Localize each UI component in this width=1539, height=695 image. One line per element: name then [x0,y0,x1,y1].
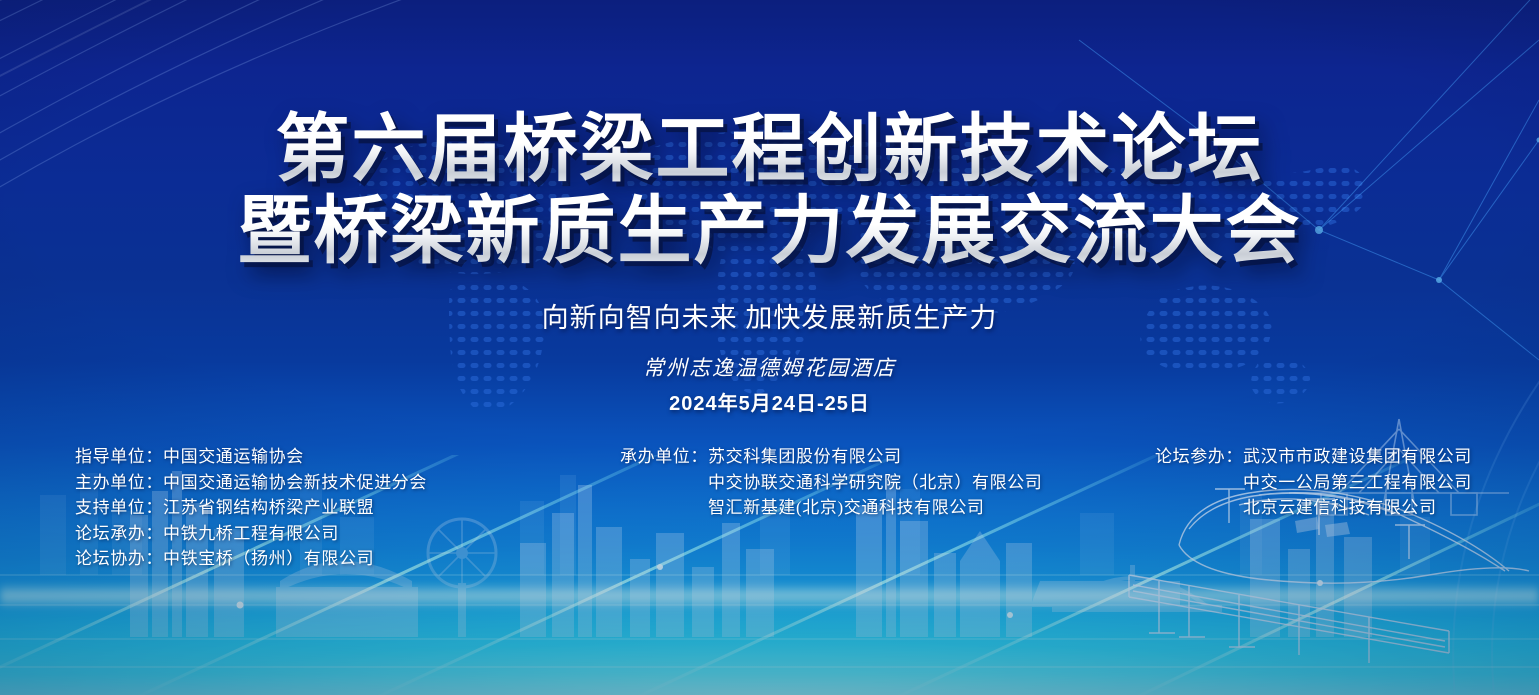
sponsor-value: 中交一公局第三工程有限公司 [1243,470,1472,496]
sponsor-value: 中交协联交通科学研究院（北京）有限公司 [708,470,1042,496]
sponsor-label: 论坛协办： [75,546,163,572]
sponsor-value: 北京云建信科技有限公司 [1243,495,1437,521]
sponsor-credits: 指导单位： 中国交通运输协会 主办单位： 中国交通运输协会新技术促进分会 支持单… [0,440,1539,570]
sponsor-value: 江苏省钢结构桥梁产业联盟 [163,495,374,521]
sponsor-row: 承办单位： 中交协联交通科学研究院（北京）有限公司 [620,470,1042,496]
conference-banner: 第六届桥梁工程创新技术论坛 暨桥梁新质生产力发展交流大会 向新向智向未来 加快发… [0,0,1539,695]
sponsor-row: 指导单位： 中国交通运输协会 [75,444,427,470]
sponsor-value: 中国交通运输协会 [163,444,304,470]
event-date: 2024年5月24日-25日 [0,387,1539,416]
sponsor-label: 主办单位： [75,470,163,496]
sponsor-value: 武汉市市政建设集团有限公司 [1243,444,1472,470]
sponsor-row: 论坛协办： 中铁宝桥（扬州）有限公司 [75,546,427,572]
sponsor-row: 论坛参办： 中交一公局第三工程有限公司 [1155,470,1472,496]
sponsor-label: 承办单位： [620,444,708,470]
venue-and-date: 常州志逸温德姆花园酒店 2024年5月24日-25日 [0,352,1539,416]
sponsor-row: 支持单位： 江苏省钢结构桥梁产业联盟 [75,495,427,521]
sponsor-column-middle: 承办单位： 苏交科集团股份有限公司 承办单位： 中交协联交通科学研究院（北京）有… [620,444,1042,521]
title-line-2: 暨桥梁新质生产力发展交流大会 [0,190,1539,272]
sponsor-row: 论坛承办： 中铁九桥工程有限公司 [75,521,427,547]
sponsor-row: 承办单位： 智汇新基建(北京)交通科技有限公司 [620,495,1042,521]
sponsor-value: 中铁九桥工程有限公司 [163,521,339,547]
sponsor-label: 论坛承办： [75,521,163,547]
main-title: 第六届桥梁工程创新技术论坛 暨桥梁新质生产力发展交流大会 [0,108,1539,272]
sponsor-label: 论坛参办： [1155,444,1243,470]
sponsor-column-right: 论坛参办： 武汉市市政建设集团有限公司 论坛参办： 中交一公局第三工程有限公司 … [1155,444,1472,521]
sponsor-value: 中国交通运输协会新技术促进分会 [163,470,427,496]
title-line-1: 第六届桥梁工程创新技术论坛 [0,108,1539,190]
subtitle-slogan: 向新向智向未来 加快发展新质生产力 [0,296,1539,335]
sponsor-label: 支持单位： [75,495,163,521]
sponsor-row: 主办单位： 中国交通运输协会新技术促进分会 [75,470,427,496]
sponsor-label: 指导单位： [75,444,163,470]
sponsor-value: 智汇新基建(北京)交通科技有限公司 [708,495,985,521]
sponsor-column-left: 指导单位： 中国交通运输协会 主办单位： 中国交通运输协会新技术促进分会 支持单… [75,444,427,572]
sponsor-row: 论坛参办： 北京云建信科技有限公司 [1155,495,1472,521]
sponsor-row: 论坛参办： 武汉市市政建设集团有限公司 [1155,444,1472,470]
banner-content: 第六届桥梁工程创新技术论坛 暨桥梁新质生产力发展交流大会 向新向智向未来 加快发… [0,0,1539,695]
venue-name: 常州志逸温德姆花园酒店 [0,352,1539,382]
sponsor-value: 中铁宝桥（扬州）有限公司 [163,546,374,572]
sponsor-value: 苏交科集团股份有限公司 [708,444,902,470]
sponsor-row: 承办单位： 苏交科集团股份有限公司 [620,444,1042,470]
